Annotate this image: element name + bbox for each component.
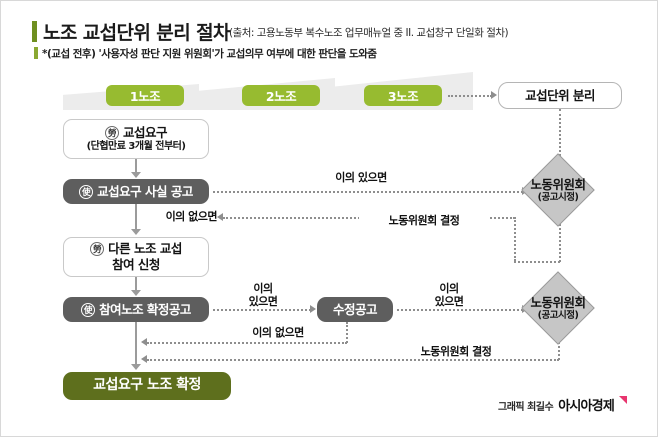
connector-revise-down-stub	[346, 322, 348, 343]
arrow-notice-to-join	[131, 229, 141, 235]
committee-2-label: 노동위원회	[530, 295, 585, 310]
infographic-frame: 노조 교섭단위 분리 절차 (출처: 고용노동부 복수노조 업무매뉴얼 중 II…	[0, 0, 658, 437]
subtitle-accent-bar	[34, 47, 38, 59]
edge-label-objection-yes-mid: 이의 있으면	[227, 282, 299, 308]
committee-2-sublabel: (공고시정)	[538, 310, 579, 322]
labor-badge-icon-2: 勞	[90, 242, 104, 256]
node-final-union-determination[interactable]: 교섭요구 노조 확정	[63, 372, 231, 400]
union-pill-1[interactable]: 1노조	[106, 85, 184, 106]
title-source: (출처: 고용노동부 복수노조 업무매뉴얼 중 II. 교섭창구 단일화 절차)	[229, 25, 508, 40]
edge-label-objection-yes-top: 이의 있으면	[296, 171, 426, 184]
node-participating-union-confirmation-label: 참여노조 확정공고	[99, 302, 191, 318]
edge-label-objection-no-top: 이의 없으면	[133, 210, 217, 223]
edge-label-objection-no-mid: 이의 없으면	[223, 326, 333, 339]
arrow-objection-no-mid-return	[141, 338, 147, 346]
arrow-join-to-confirm	[131, 290, 141, 296]
node-bargaining-demand-sublabel: (단협만료 3개월 전부터)	[87, 140, 186, 153]
node-separation-of-bargaining-unit[interactable]: 교섭단위 분리	[498, 82, 622, 109]
arrow-confirm-to-revise	[310, 305, 316, 313]
edge-label-decision-top: 노동위원회 결정	[359, 214, 489, 227]
arrow-union3-to-separation	[491, 91, 497, 99]
node-other-union-join-request-label: 다른 노조 교섭	[108, 241, 182, 257]
committee-1-label: 노동위원회	[530, 177, 585, 192]
node-participating-union-confirmation[interactable]: 使 참여노조 확정공고	[63, 297, 209, 322]
page-subtitle: *(교섭 전후) '사용자성 판단 지원 위원회'가 교섭의무 여부에 대한 판…	[42, 46, 377, 61]
connector-committee1-down-stub	[514, 217, 516, 261]
union-pill-3[interactable]: 3노조	[364, 85, 442, 106]
arrow-committee2-decision-return	[141, 355, 147, 363]
node-other-union-join-request[interactable]: 勞 다른 노조 교섭 참여 신청	[63, 237, 209, 277]
connector-committee2-decision-return	[147, 359, 559, 361]
connector-confirm-to-final	[135, 322, 137, 365]
employer-badge-icon-2: 使	[81, 303, 95, 317]
arrow-demand-to-notice	[131, 172, 141, 178]
connector-notice-to-join	[135, 204, 137, 230]
node-demand-fact-announcement-label: 교섭요구 사실 공고	[97, 184, 193, 200]
arrow-committee1-return	[217, 213, 223, 221]
node-demand-fact-announcement[interactable]: 使 교섭요구 사실 공고	[63, 179, 209, 204]
node-final-union-determination-label: 교섭요구 노조 확정	[93, 377, 201, 395]
connector-committee1-return-elbow	[514, 261, 560, 263]
node-revised-announcement-label: 수정공고	[333, 302, 377, 318]
footer-credit: 그래픽 최길수 아시아경제	[498, 395, 627, 414]
labor-badge-icon: 勞	[105, 126, 119, 140]
connector-objection-no-mid-return	[147, 342, 347, 344]
connector-confirm-to-revise	[213, 309, 311, 311]
title-accent-bar	[32, 21, 37, 42]
employer-badge-icon: 使	[79, 185, 93, 199]
committee-diamond-2: 노동위원회 (공고시정)	[497, 294, 619, 324]
connector-demand-to-notice	[135, 159, 137, 173]
union-pill-2[interactable]: 2노조	[242, 85, 320, 106]
node-revised-announcement[interactable]: 수정공고	[317, 297, 393, 322]
credit-brand: 아시아경제	[558, 395, 614, 414]
connector-notice-to-committee1	[213, 191, 523, 193]
brand-mark-icon	[619, 396, 627, 404]
arrow-confirm-to-final	[131, 364, 141, 370]
connector-join-to-confirm	[135, 277, 137, 291]
page-title: 노조 교섭단위 분리 절차	[43, 18, 230, 45]
edge-label-decision-bottom: 노동위원회 결정	[391, 345, 521, 358]
node-separation-label: 교섭단위 분리	[525, 88, 595, 104]
committee-diamond-1: 노동위원회 (공고시정)	[497, 176, 619, 206]
connector-union3-to-separation	[448, 95, 492, 97]
committee-1-sublabel: (공고시정)	[538, 192, 579, 204]
node-bargaining-demand[interactable]: 勞 교섭요구 (단협만료 3개월 전부터)	[63, 119, 209, 159]
edge-label-objection-yes-right: 이의 있으면	[413, 282, 485, 308]
node-bargaining-demand-label: 교섭요구	[123, 125, 167, 141]
credit-author: 그래픽 최길수	[498, 398, 553, 413]
header: 노조 교섭단위 분리 절차 (출처: 고용노동부 복수노조 업무매뉴얼 중 II…	[1, 1, 658, 67]
node-other-union-join-request-label2: 참여 신청	[112, 257, 160, 273]
